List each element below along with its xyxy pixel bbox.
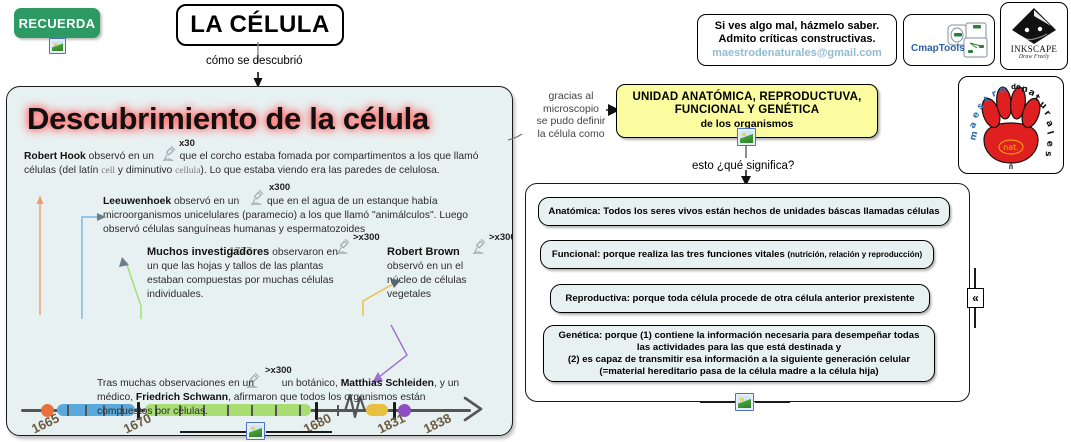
property-genetica[interactable]: Genética: porque (1) contiene la informa… xyxy=(543,325,935,382)
discovery-panel: Descubrimiento de la célula x30 Robert H… xyxy=(6,86,513,436)
page-title: LA CÉLULA xyxy=(190,11,330,39)
property-funcional[interactable]: Funcional: porque realiza las tres funci… xyxy=(540,240,934,269)
property-funcional-text: Funcional: porque realiza las tres funci… xyxy=(552,249,788,260)
property-anatomica-text: Anatómica: Todos los seres vivos están h… xyxy=(542,206,945,218)
svg-text:nat.: nat. xyxy=(1003,143,1019,152)
paw-logo-box: nat. ⋔ m a e s t r o de n a t u r a l e … xyxy=(958,76,1064,174)
entry-name-schwann: Friedrich Schwann xyxy=(136,392,228,403)
connector-label-how-discovered: cómo se descubrió xyxy=(206,55,303,67)
inkscape-label: INKSCAPE xyxy=(1001,44,1067,54)
inkscape-sublabel: Draw Freely xyxy=(1001,54,1067,60)
right-panel-image-icon[interactable] xyxy=(735,393,754,411)
definition-line-2: FUNCIONAL Y GENÉTICA xyxy=(675,104,820,117)
definition-line-1: UNIDAD ANATÓMICA, REPRODUCTUVA, xyxy=(633,91,862,104)
feedback-box: Si ves algo mal, házmelo saber. Admito c… xyxy=(697,14,897,66)
svg-text:de: de xyxy=(1011,83,1021,91)
collapse-line-bottom xyxy=(974,306,976,328)
svg-text:e: e xyxy=(1044,140,1055,147)
svg-text:a: a xyxy=(1043,119,1055,129)
cmaptools-label: CmapTools xyxy=(911,43,965,54)
footer-line-rp-right xyxy=(755,401,790,403)
connector-label-what-means: esto ¿qué significa? xyxy=(692,160,794,172)
footer-line-right xyxy=(266,431,332,433)
entry-schleiden-schwann: Tras muchas observaciones en un un botán… xyxy=(97,377,477,419)
definition-image-icon[interactable] xyxy=(737,128,756,146)
svg-text:s: s xyxy=(1043,151,1053,157)
title-box[interactable]: LA CÉLULA xyxy=(176,4,344,46)
properties-panel: Anatómica: Todos los seres vivos están h… xyxy=(525,183,970,402)
collapse-line-top xyxy=(974,268,976,290)
left-panel-image-icon[interactable] xyxy=(246,422,265,440)
svg-text:l: l xyxy=(1044,130,1054,136)
svg-text:m: m xyxy=(968,130,980,142)
recuerda-badge[interactable]: RECUERDA xyxy=(14,8,100,38)
collapse-handle-icon: « xyxy=(972,292,979,304)
svg-text:r: r xyxy=(1042,109,1053,119)
inkscape-box[interactable]: INKSCAPE Draw Freely xyxy=(1000,2,1068,70)
collapse-handle[interactable]: « xyxy=(967,288,984,308)
magnification-gt-x300-schleiden: >x300 xyxy=(265,365,292,376)
feedback-line-2: Admito críticas constructivas. xyxy=(718,33,875,46)
footer-line-left xyxy=(180,431,246,433)
cmaptools-box[interactable]: CmapTools xyxy=(903,14,995,66)
property-genetica-line-4: (=material hereditario pasa de la célula… xyxy=(599,366,878,377)
recuerda-label: RECUERDA xyxy=(19,16,96,31)
property-genetica-line-3: (2) es capaz de transmitir esa informaci… xyxy=(568,354,910,365)
svg-text:⋔: ⋔ xyxy=(1008,162,1015,171)
connector-arrow-to-definition xyxy=(506,92,622,142)
svg-text:a: a xyxy=(968,120,980,130)
paw-logo: nat. ⋔ m a e s t r o de n a t u r a l e … xyxy=(963,79,1059,171)
footer-line-rp-left xyxy=(700,401,735,403)
recuerda-image-icon[interactable] xyxy=(49,38,66,54)
property-reproductiva-text: Reproductiva: porque toda célula procede… xyxy=(559,293,920,305)
inkscape-icon xyxy=(1009,6,1059,46)
entry-name-schleiden: Matthias Schleiden xyxy=(341,378,434,389)
svg-text:o: o xyxy=(999,85,1007,96)
property-anatomica[interactable]: Anatómica: Todos los seres vivos están h… xyxy=(538,197,950,226)
property-genetica-line-2: las actividades para las que está destin… xyxy=(637,342,841,353)
feedback-line-1: Si ves algo mal, házmelo saber. xyxy=(715,20,879,33)
property-reproductiva[interactable]: Reproductiva: porque toda célula procede… xyxy=(550,284,930,313)
property-funcional-detail: (nutrición, relación y reproducción) xyxy=(787,250,922,259)
feedback-email[interactable]: maestrodenaturales@gmail.com xyxy=(712,46,882,60)
property-genetica-line-1: Genética: porque (1) contiene la informa… xyxy=(559,330,920,341)
